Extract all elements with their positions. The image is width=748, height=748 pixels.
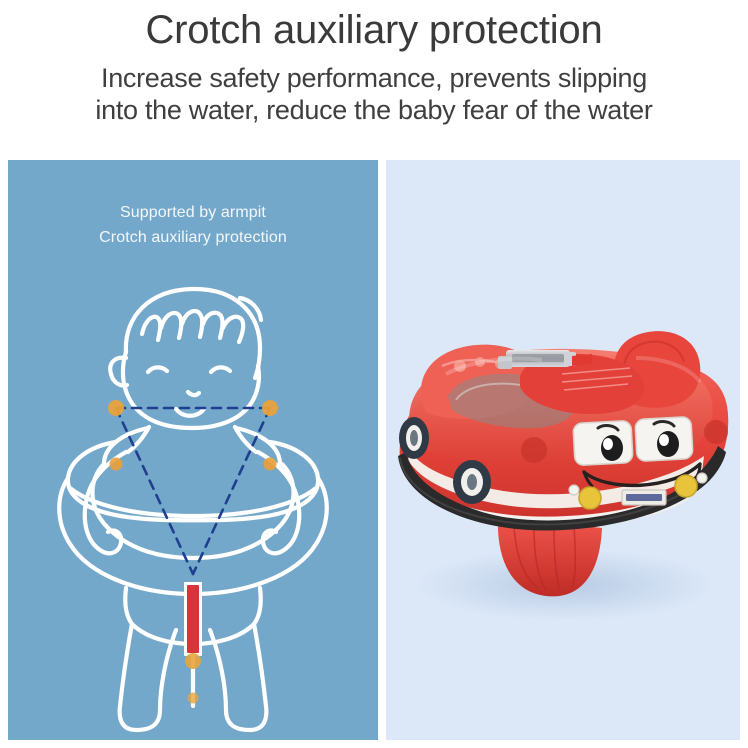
side-vent-left [521,437,547,463]
baby-swim-ring-illustration [8,256,378,740]
right-headlight [675,475,697,497]
marker-crotch [185,653,201,669]
header: Crotch auxiliary protection Increase saf… [0,0,748,155]
marker-left-armpit [108,400,124,416]
swim-ring-lower-outer [59,478,327,594]
hair-strand-4 [203,313,223,338]
left-pupil [601,435,623,461]
float-body [398,331,728,530]
marker-lower-leg [188,693,199,704]
hair-strand-2 [161,313,181,338]
marker-right-armpit [262,400,278,416]
red-car-swim-float-photo [386,160,740,740]
product-feature-graphic: Crotch auxiliary protection Increase saf… [0,0,748,748]
left-headlight [579,487,601,509]
baby-right-hip [254,588,261,624]
baby-left-hip [125,588,132,624]
caption-line-2: Crotch auxiliary protection [8,225,378,250]
left-panel-caption: Supported by armpit Crotch auxiliary pro… [8,200,378,250]
right-panel-product-photo [386,160,740,740]
subtitle-line-2: into the water, reduce the baby fear of … [0,94,748,126]
caption-line-1: Supported by armpit [8,200,378,225]
marker-left-ring-lower [110,458,123,471]
hair-strand-1 [142,317,160,340]
page-subtitle: Increase safety performance, prevents sl… [0,62,748,126]
marker-right-ring-lower [264,458,277,471]
swim-ring-upper-front [136,518,252,520]
swim-ring-top-rim-left [104,428,148,464]
baby-nose [188,392,199,395]
right-pupil [657,431,679,457]
left-indicator [569,485,579,495]
baby-mouth [176,409,204,416]
hair-strand-5 [223,317,243,342]
guide-line-right-diagonal [193,408,270,574]
side-vent-right [704,420,728,444]
license-plate [622,490,666,505]
buckle-strap [572,354,592,366]
page-title: Crotch auxiliary protection [0,6,748,54]
left-panel-diagram: Supported by armpit Crotch auxiliary pro… [8,160,378,740]
baby-right-eyebrow [211,367,230,372]
crotch-strap-marker [184,582,202,656]
subtitle-line-1: Increase safety performance, prevents sl… [0,62,748,94]
baby-left-eyebrow [148,367,167,372]
hair-strand-3 [182,311,202,337]
right-indicator [697,473,707,483]
